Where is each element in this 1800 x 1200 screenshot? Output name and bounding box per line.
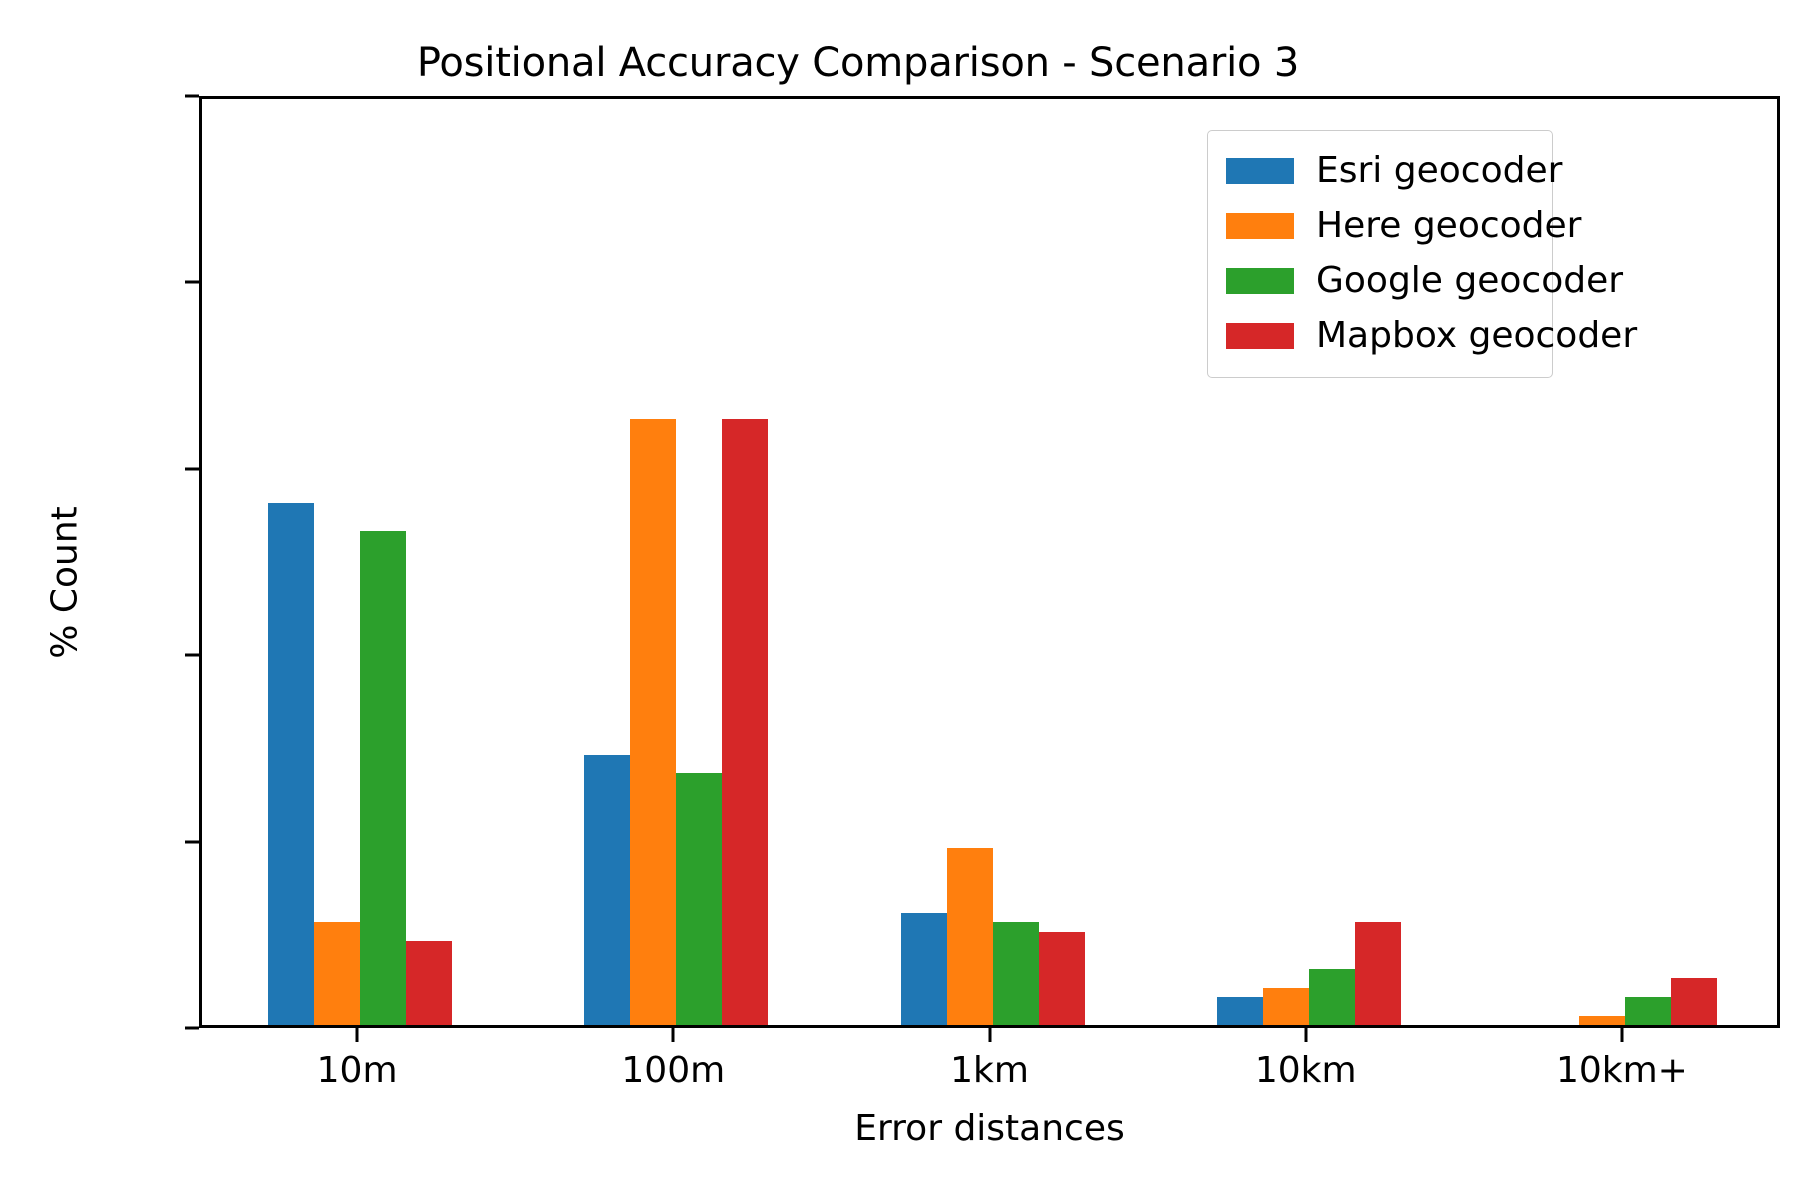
legend-item-label: Google geocoder bbox=[1316, 260, 1623, 301]
legend-item-label: Mapbox geocoder bbox=[1316, 315, 1637, 356]
legend-item: Mapbox geocoder bbox=[1226, 308, 1538, 363]
x-tick-mark bbox=[1620, 1028, 1623, 1042]
legend-item: Google geocoder bbox=[1226, 253, 1538, 308]
legend-item: Esri geocoder bbox=[1226, 143, 1538, 198]
legend-item-label: Here geocoder bbox=[1316, 205, 1581, 246]
legend-item: Here geocoder bbox=[1226, 198, 1538, 253]
x-axis-label: Error distances bbox=[199, 1108, 1780, 1149]
legend-item-label: Esri geocoder bbox=[1316, 150, 1562, 191]
x-tick-label: 10km bbox=[1255, 1050, 1357, 1091]
legend: Esri geocoderHere geocoderGoogle geocode… bbox=[1207, 130, 1553, 378]
x-tick-label: 10km+ bbox=[1556, 1050, 1688, 1091]
legend-color-swatch-icon bbox=[1226, 323, 1294, 349]
y-axis-label: % Count bbox=[45, 263, 86, 903]
x-tick-label: 10m bbox=[317, 1050, 398, 1091]
x-tick-label: 100m bbox=[621, 1050, 725, 1091]
x-tick-mark bbox=[1304, 1028, 1307, 1042]
x-tick-mark bbox=[672, 1028, 675, 1042]
bar-chart-figure: Positional Accuracy Comparison - Scenari… bbox=[0, 0, 1800, 1200]
legend-color-swatch-icon bbox=[1226, 268, 1294, 294]
x-tick-mark bbox=[988, 1028, 991, 1042]
legend-color-swatch-icon bbox=[1226, 158, 1294, 184]
x-tick-label: 1km bbox=[950, 1050, 1029, 1091]
x-tick-mark bbox=[356, 1028, 359, 1042]
legend-color-swatch-icon bbox=[1226, 213, 1294, 239]
